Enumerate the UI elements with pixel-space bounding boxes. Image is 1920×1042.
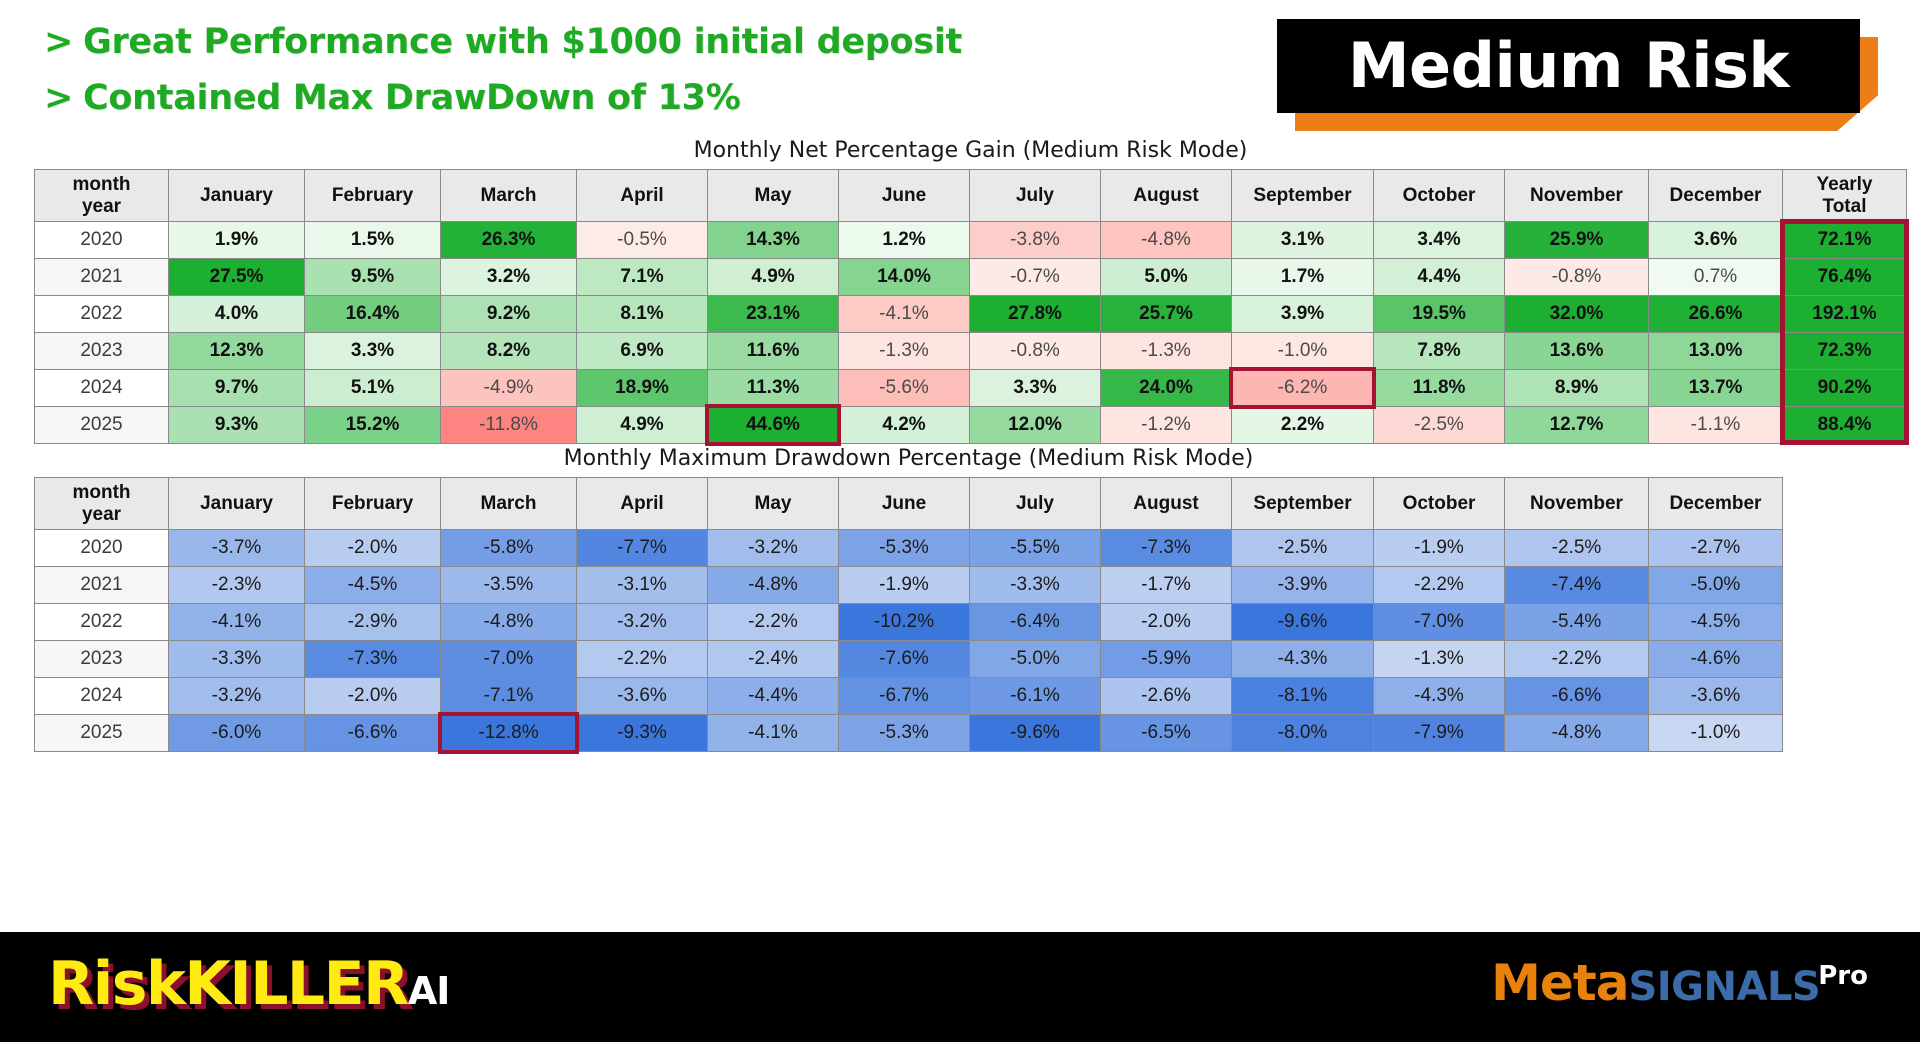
data-cell: -3.1% — [577, 567, 708, 604]
table-row: 20224.0%16.4%9.2%8.1%23.1%-4.1%27.8%25.7… — [35, 296, 1907, 333]
data-cell: 1.2% — [839, 222, 970, 259]
header-cell-month-year: monthyear — [35, 170, 169, 222]
data-cell: -2.9% — [305, 604, 441, 641]
data-cell: 5.1% — [305, 370, 441, 407]
data-cell: 4.2% — [839, 407, 970, 444]
data-cell: -11.8% — [441, 407, 577, 444]
data-cell: 88.4% — [1783, 407, 1907, 444]
table-row: 2023-3.3%-7.3%-7.0%-2.2%-2.4%-7.6%-5.0%-… — [35, 641, 1783, 678]
header-cell-february: February — [305, 170, 441, 222]
data-cell: -6.2% — [1232, 370, 1374, 407]
data-cell: -7.1% — [441, 678, 577, 715]
row-year-cell: 2020 — [35, 222, 169, 259]
data-cell: 27.8% — [970, 296, 1101, 333]
table-head: monthyearJanuaryFebruaryMarchAprilMayJun… — [35, 170, 1907, 222]
data-cell: -2.6% — [1101, 678, 1232, 715]
data-cell: -1.1% — [1649, 407, 1783, 444]
data-cell: -5.6% — [839, 370, 970, 407]
header-cell-july: July — [970, 478, 1101, 530]
data-cell: -3.8% — [970, 222, 1101, 259]
data-cell: -3.2% — [577, 604, 708, 641]
data-cell: 8.1% — [577, 296, 708, 333]
data-cell: -4.1% — [169, 604, 305, 641]
data-cell: 19.5% — [1374, 296, 1505, 333]
net-gain-title: Monthly Net Percentage Gain (Medium Risk… — [34, 138, 1907, 163]
table-head: monthyearJanuaryFebruaryMarchAprilMayJun… — [35, 478, 1783, 530]
data-cell: -0.5% — [577, 222, 708, 259]
row-year-cell: 2025 — [35, 407, 169, 444]
bullet-text: Contained Max DrawDown of 13% — [83, 78, 740, 118]
table-row: 2024-3.2%-2.0%-7.1%-3.6%-4.4%-6.7%-6.1%-… — [35, 678, 1783, 715]
header-cell-april: April — [577, 170, 708, 222]
data-cell: -0.7% — [970, 259, 1101, 296]
data-cell: 18.9% — [577, 370, 708, 407]
data-cell: -5.5% — [970, 530, 1101, 567]
header-cell-december: December — [1649, 478, 1783, 530]
data-cell: 11.6% — [708, 333, 839, 370]
header-cell-september: September — [1232, 170, 1374, 222]
data-cell: -2.2% — [708, 604, 839, 641]
data-cell: 32.0% — [1505, 296, 1649, 333]
data-cell: 9.5% — [305, 259, 441, 296]
riskkiller-logo-suffix: AI — [408, 969, 450, 1013]
data-cell: 4.0% — [169, 296, 305, 333]
data-cell: 3.9% — [1232, 296, 1374, 333]
header-cell-may: May — [708, 170, 839, 222]
table-row: 2022-4.1%-2.9%-4.8%-3.2%-2.2%-10.2%-6.4%… — [35, 604, 1783, 641]
data-cell: -6.7% — [839, 678, 970, 715]
data-cell: -1.9% — [839, 567, 970, 604]
data-cell: 72.1% — [1783, 222, 1907, 259]
data-cell: -3.2% — [708, 530, 839, 567]
data-cell: -2.4% — [708, 641, 839, 678]
data-cell: 9.2% — [441, 296, 577, 333]
data-cell: 192.1% — [1783, 296, 1907, 333]
data-cell: -4.1% — [708, 715, 839, 752]
data-cell: -7.6% — [839, 641, 970, 678]
data-cell: -0.8% — [970, 333, 1101, 370]
header-cell-october: October — [1374, 170, 1505, 222]
data-cell: -1.2% — [1101, 407, 1232, 444]
drawdown-table-block: Monthly Maximum Drawdown Percentage (Med… — [34, 446, 1783, 752]
header-cell-october: October — [1374, 478, 1505, 530]
data-cell: -5.3% — [839, 530, 970, 567]
risk-badge-label: Medium Risk — [1348, 35, 1789, 97]
data-cell: -5.0% — [1649, 567, 1783, 604]
data-cell: 4.4% — [1374, 259, 1505, 296]
data-cell: 8.2% — [441, 333, 577, 370]
data-cell: -7.3% — [1101, 530, 1232, 567]
data-cell: -2.0% — [305, 530, 441, 567]
data-cell: -3.7% — [169, 530, 305, 567]
data-cell: -2.0% — [1101, 604, 1232, 641]
data-cell: -6.6% — [305, 715, 441, 752]
data-cell: -2.5% — [1374, 407, 1505, 444]
row-year-cell: 2024 — [35, 370, 169, 407]
data-cell: 25.9% — [1505, 222, 1649, 259]
riskkiller-logo: RiskKILLERAI — [48, 954, 449, 1014]
data-cell: 14.0% — [839, 259, 970, 296]
row-year-cell: 2021 — [35, 259, 169, 296]
header-cell-december: December — [1649, 170, 1783, 222]
data-cell: 3.2% — [441, 259, 577, 296]
data-cell: -3.3% — [970, 567, 1101, 604]
bullet-caret: > — [44, 78, 73, 118]
drawdown-table: monthyearJanuaryFebruaryMarchAprilMayJun… — [34, 477, 1783, 752]
data-cell: -2.3% — [169, 567, 305, 604]
data-cell: -4.3% — [1374, 678, 1505, 715]
header-cell-january: January — [169, 478, 305, 530]
riskkiller-logo-main: RiskKILLER — [48, 949, 408, 1019]
data-cell: -2.7% — [1649, 530, 1783, 567]
data-cell: 25.7% — [1101, 296, 1232, 333]
data-cell: -7.0% — [441, 641, 577, 678]
data-cell: 76.4% — [1783, 259, 1907, 296]
data-cell: -1.3% — [839, 333, 970, 370]
data-cell: -7.9% — [1374, 715, 1505, 752]
data-cell: -7.0% — [1374, 604, 1505, 641]
data-cell: -6.5% — [1101, 715, 1232, 752]
header-bullets: >Great Performance with $1000 initial de… — [44, 22, 962, 118]
data-cell: -3.5% — [441, 567, 577, 604]
drawdown-title: Monthly Maximum Drawdown Percentage (Med… — [34, 446, 1783, 471]
header-cell-march: March — [441, 170, 577, 222]
data-cell: 13.6% — [1505, 333, 1649, 370]
data-cell: -4.3% — [1232, 641, 1374, 678]
metasignals-logo-meta: Meta — [1491, 954, 1628, 1012]
table-body: 2020-3.7%-2.0%-5.8%-7.7%-3.2%-5.3%-5.5%-… — [35, 530, 1783, 752]
data-cell: -9.6% — [970, 715, 1101, 752]
table-row: 2025-6.0%-6.6%-12.8%-9.3%-4.1%-5.3%-9.6%… — [35, 715, 1783, 752]
data-cell: -6.4% — [970, 604, 1101, 641]
net-gain-table-block: Monthly Net Percentage Gain (Medium Risk… — [34, 138, 1907, 444]
data-cell: -1.7% — [1101, 567, 1232, 604]
data-cell: 12.3% — [169, 333, 305, 370]
data-cell: -3.6% — [1649, 678, 1783, 715]
data-cell: -4.5% — [305, 567, 441, 604]
header-cell-may: May — [708, 478, 839, 530]
data-cell: -3.2% — [169, 678, 305, 715]
data-cell: 5.0% — [1101, 259, 1232, 296]
header-cell-june: June — [839, 478, 970, 530]
data-cell: 1.7% — [1232, 259, 1374, 296]
net-gain-table: monthyearJanuaryFebruaryMarchAprilMayJun… — [34, 169, 1907, 444]
data-cell: 8.9% — [1505, 370, 1649, 407]
data-cell: -3.9% — [1232, 567, 1374, 604]
data-cell: -3.3% — [169, 641, 305, 678]
data-cell: 6.9% — [577, 333, 708, 370]
data-cell: -2.5% — [1232, 530, 1374, 567]
header-cell-august: August — [1101, 478, 1232, 530]
header-cell-january: January — [169, 170, 305, 222]
data-cell: 3.6% — [1649, 222, 1783, 259]
data-cell: 3.4% — [1374, 222, 1505, 259]
header-cell-november: November — [1505, 170, 1649, 222]
data-cell: -5.3% — [839, 715, 970, 752]
data-cell: 13.0% — [1649, 333, 1783, 370]
data-cell: -2.5% — [1505, 530, 1649, 567]
data-cell: -10.2% — [839, 604, 970, 641]
row-year-cell: 2022 — [35, 296, 169, 333]
data-cell: -4.8% — [708, 567, 839, 604]
data-cell: -9.6% — [1232, 604, 1374, 641]
table-row: 2020-3.7%-2.0%-5.8%-7.7%-3.2%-5.3%-5.5%-… — [35, 530, 1783, 567]
data-cell: 3.3% — [305, 333, 441, 370]
header-cell-yearly-total: YearlyTotal — [1783, 170, 1907, 222]
table-row: 202127.5%9.5%3.2%7.1%4.9%14.0%-0.7%5.0%1… — [35, 259, 1907, 296]
row-year-cell: 2025 — [35, 715, 169, 752]
header-cell-november: November — [1505, 478, 1649, 530]
data-cell: -9.3% — [577, 715, 708, 752]
header-cell-april: April — [577, 478, 708, 530]
data-cell: -6.1% — [970, 678, 1101, 715]
data-cell: -4.1% — [839, 296, 970, 333]
table-header-row: monthyearJanuaryFebruaryMarchAprilMayJun… — [35, 478, 1783, 530]
row-year-cell: 2020 — [35, 530, 169, 567]
data-cell: 7.8% — [1374, 333, 1505, 370]
data-cell: -4.8% — [441, 604, 577, 641]
data-cell: -2.2% — [1374, 567, 1505, 604]
header-cell-august: August — [1101, 170, 1232, 222]
data-cell: 90.2% — [1783, 370, 1907, 407]
data-cell: 11.8% — [1374, 370, 1505, 407]
data-cell: -1.0% — [1232, 333, 1374, 370]
footer-bar: RiskKILLERAI MetaSIGNALSPro — [0, 932, 1920, 1042]
row-year-cell: 2024 — [35, 678, 169, 715]
data-cell: -5.9% — [1101, 641, 1232, 678]
header-cell-july: July — [970, 170, 1101, 222]
data-cell: 44.6% — [708, 407, 839, 444]
data-cell: -4.9% — [441, 370, 577, 407]
data-cell: -4.5% — [1649, 604, 1783, 641]
data-cell: 1.9% — [169, 222, 305, 259]
data-cell: -2.2% — [577, 641, 708, 678]
data-cell: 4.9% — [708, 259, 839, 296]
data-cell: -1.9% — [1374, 530, 1505, 567]
row-year-cell: 2022 — [35, 604, 169, 641]
data-cell: -0.8% — [1505, 259, 1649, 296]
risk-badge-panel: Medium Risk — [1277, 19, 1860, 113]
data-cell: -4.6% — [1649, 641, 1783, 678]
data-cell: -7.3% — [305, 641, 441, 678]
data-cell: -8.1% — [1232, 678, 1374, 715]
data-cell: 11.3% — [708, 370, 839, 407]
data-cell: -6.6% — [1505, 678, 1649, 715]
data-cell: 3.1% — [1232, 222, 1374, 259]
table-header-row: monthyearJanuaryFebruaryMarchAprilMayJun… — [35, 170, 1907, 222]
data-cell: 12.0% — [970, 407, 1101, 444]
data-cell: -4.4% — [708, 678, 839, 715]
data-cell: 2.2% — [1232, 407, 1374, 444]
data-cell: 12.7% — [1505, 407, 1649, 444]
data-cell: 14.3% — [708, 222, 839, 259]
header-cell-march: March — [441, 478, 577, 530]
data-cell: -6.0% — [169, 715, 305, 752]
row-year-cell: 2023 — [35, 641, 169, 678]
data-cell: 23.1% — [708, 296, 839, 333]
data-cell: 16.4% — [305, 296, 441, 333]
data-cell: -1.0% — [1649, 715, 1783, 752]
data-cell: -2.2% — [1505, 641, 1649, 678]
header-cell-month-year: monthyear — [35, 478, 169, 530]
table-row: 202312.3%3.3%8.2%6.9%11.6%-1.3%-0.8%-1.3… — [35, 333, 1907, 370]
data-cell: -5.4% — [1505, 604, 1649, 641]
data-cell: 72.3% — [1783, 333, 1907, 370]
data-cell: -7.7% — [577, 530, 708, 567]
data-cell: -8.0% — [1232, 715, 1374, 752]
bullet-caret: > — [44, 22, 73, 62]
header-cell-september: September — [1232, 478, 1374, 530]
data-cell: 9.3% — [169, 407, 305, 444]
data-cell: 1.5% — [305, 222, 441, 259]
data-cell: -5.8% — [441, 530, 577, 567]
data-cell: -1.3% — [1374, 641, 1505, 678]
data-cell: 0.7% — [1649, 259, 1783, 296]
data-cell: 7.1% — [577, 259, 708, 296]
data-cell: 26.3% — [441, 222, 577, 259]
bullet-text: Great Performance with $1000 initial dep… — [83, 22, 962, 62]
table-row: 20259.3%15.2%-11.8%4.9%44.6%4.2%12.0%-1.… — [35, 407, 1907, 444]
metasignals-logo-signals: SIGNALS — [1628, 964, 1820, 1010]
row-year-cell: 2023 — [35, 333, 169, 370]
data-cell: 13.7% — [1649, 370, 1783, 407]
row-year-cell: 2021 — [35, 567, 169, 604]
data-cell: 15.2% — [305, 407, 441, 444]
header-cell-june: June — [839, 170, 970, 222]
data-cell: -12.8% — [441, 715, 577, 752]
data-cell: 3.3% — [970, 370, 1101, 407]
table-row: 20249.7%5.1%-4.9%18.9%11.3%-5.6%3.3%24.0… — [35, 370, 1907, 407]
table-body: 20201.9%1.5%26.3%-0.5%14.3%1.2%-3.8%-4.8… — [35, 222, 1907, 444]
bullet-line-1: >Great Performance with $1000 initial de… — [44, 22, 962, 62]
data-cell: -4.8% — [1505, 715, 1649, 752]
bullet-line-2: >Contained Max DrawDown of 13% — [44, 78, 962, 118]
data-cell: 4.9% — [577, 407, 708, 444]
metasignals-logo-pro: Pro — [1818, 961, 1868, 991]
header-cell-february: February — [305, 478, 441, 530]
data-cell: -4.8% — [1101, 222, 1232, 259]
table-row: 2021-2.3%-4.5%-3.5%-3.1%-4.8%-1.9%-3.3%-… — [35, 567, 1783, 604]
data-cell: 24.0% — [1101, 370, 1232, 407]
data-cell: -7.4% — [1505, 567, 1649, 604]
data-cell: 26.6% — [1649, 296, 1783, 333]
slide-root: >Great Performance with $1000 initial de… — [0, 0, 1920, 1042]
data-cell: -3.6% — [577, 678, 708, 715]
data-cell: 9.7% — [169, 370, 305, 407]
metasignals-logo: MetaSIGNALSPro — [1491, 958, 1870, 1008]
table-row: 20201.9%1.5%26.3%-0.5%14.3%1.2%-3.8%-4.8… — [35, 222, 1907, 259]
data-cell: -2.0% — [305, 678, 441, 715]
risk-badge: Medium Risk — [1277, 19, 1877, 131]
data-cell: -5.0% — [970, 641, 1101, 678]
data-cell: 27.5% — [169, 259, 305, 296]
data-cell: -1.3% — [1101, 333, 1232, 370]
